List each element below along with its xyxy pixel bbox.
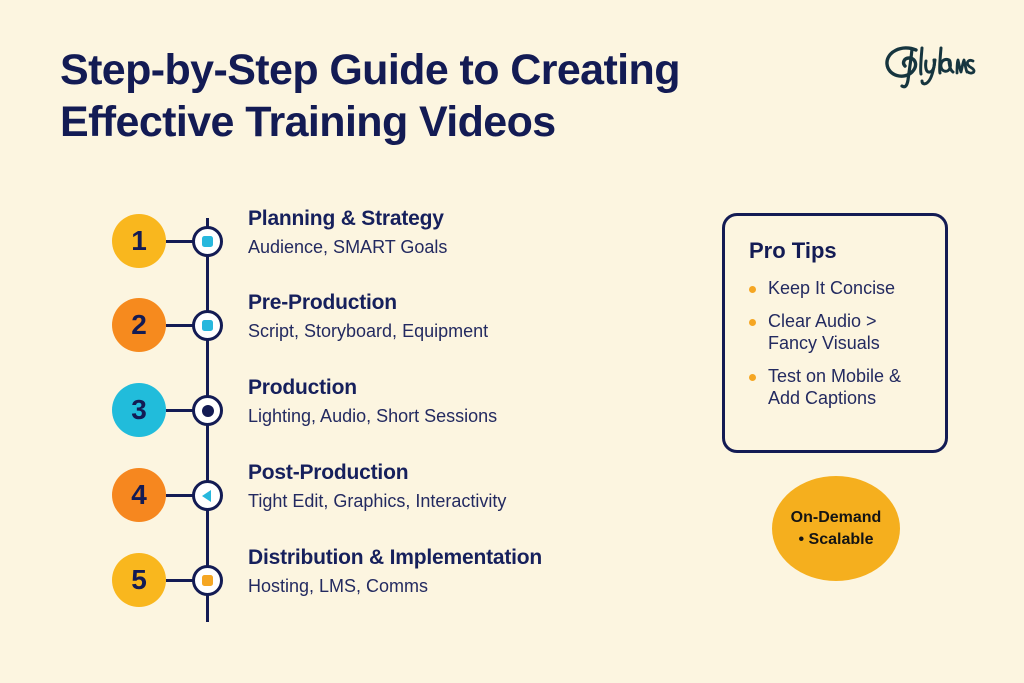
- timeline-step-2[interactable]: 2 Pre-Production Script, Storyboard, Equ…: [110, 298, 690, 354]
- pro-tips-panel: Pro Tips Keep It Concise Clear Audio > F…: [722, 213, 948, 453]
- step-description-5: Hosting, LMS, Comms: [248, 575, 688, 598]
- on-demand-badge: On-Demand • Scalable: [772, 476, 900, 581]
- step-node-5: [192, 565, 223, 596]
- steps-timeline: 1 Planning & Strategy Audience, SMART Go…: [110, 210, 690, 630]
- pro-tip-label-1: Keep It Concise: [768, 278, 895, 298]
- step-description-4: Tight Edit, Graphics, Interactivity: [248, 490, 688, 513]
- step-text-2: Pre-Production Script, Storyboard, Equip…: [248, 290, 688, 343]
- badge-line-2: • Scalable: [799, 529, 874, 550]
- step-node-4: [192, 480, 223, 511]
- timeline-step-5[interactable]: 5 Distribution & Implementation Hosting,…: [110, 553, 690, 609]
- pro-tip-label-2: Clear Audio > Fancy Visuals: [768, 311, 880, 353]
- triangle-left-icon: [202, 490, 211, 502]
- step-node-1: [192, 226, 223, 257]
- square-icon: [202, 575, 213, 586]
- bullet-icon: [749, 374, 756, 381]
- step-description-2: Script, Storyboard, Equipment: [248, 320, 688, 343]
- page-title: Step-by-Step Guide to Creating Effective…: [60, 44, 740, 149]
- step-heading-5: Distribution & Implementation: [248, 545, 688, 570]
- infographic-canvas: Step-by-Step Guide to Creating Effective…: [0, 0, 1024, 683]
- step-number-badge-5: 5: [112, 553, 166, 607]
- step-text-1: Planning & Strategy Audience, SMART Goal…: [248, 206, 688, 259]
- step-description-3: Lighting, Audio, Short Sessions: [248, 405, 688, 428]
- pro-tips-title: Pro Tips: [749, 238, 925, 264]
- circle-icon: [202, 405, 214, 417]
- step-text-3: Production Lighting, Audio, Short Sessio…: [248, 375, 688, 428]
- step-heading-4: Post-Production: [248, 460, 688, 485]
- pro-tip-item-1: Keep It Concise: [749, 278, 925, 300]
- step-node-3: [192, 395, 223, 426]
- step-heading-3: Production: [248, 375, 688, 400]
- step-node-2: [192, 310, 223, 341]
- step-heading-1: Planning & Strategy: [248, 206, 688, 231]
- step-description-1: Audience, SMART Goals: [248, 236, 688, 259]
- timeline-step-1[interactable]: 1 Planning & Strategy Audience, SMART Go…: [110, 214, 690, 270]
- badge-line-1: On-Demand: [791, 507, 882, 528]
- step-number-badge-1: 1: [112, 214, 166, 268]
- bullet-icon: [749, 286, 756, 293]
- bullet-icon: [749, 319, 756, 326]
- step-number-badge-4: 4: [112, 468, 166, 522]
- pro-tip-item-3: Test on Mobile & Add Captions: [749, 366, 925, 410]
- pro-tip-item-2: Clear Audio > Fancy Visuals: [749, 311, 925, 355]
- step-text-4: Post-Production Tight Edit, Graphics, In…: [248, 460, 688, 513]
- timeline-step-4[interactable]: 4 Post-Production Tight Edit, Graphics, …: [110, 468, 690, 524]
- square-icon: [202, 320, 213, 331]
- glydrs-logo: [878, 40, 982, 90]
- timeline-step-3[interactable]: 3 Production Lighting, Audio, Short Sess…: [110, 383, 690, 439]
- pro-tip-label-3: Test on Mobile & Add Captions: [768, 366, 901, 408]
- step-number-badge-3: 3: [112, 383, 166, 437]
- step-heading-2: Pre-Production: [248, 290, 688, 315]
- square-icon: [202, 236, 213, 247]
- step-text-5: Distribution & Implementation Hosting, L…: [248, 545, 688, 598]
- step-number-badge-2: 2: [112, 298, 166, 352]
